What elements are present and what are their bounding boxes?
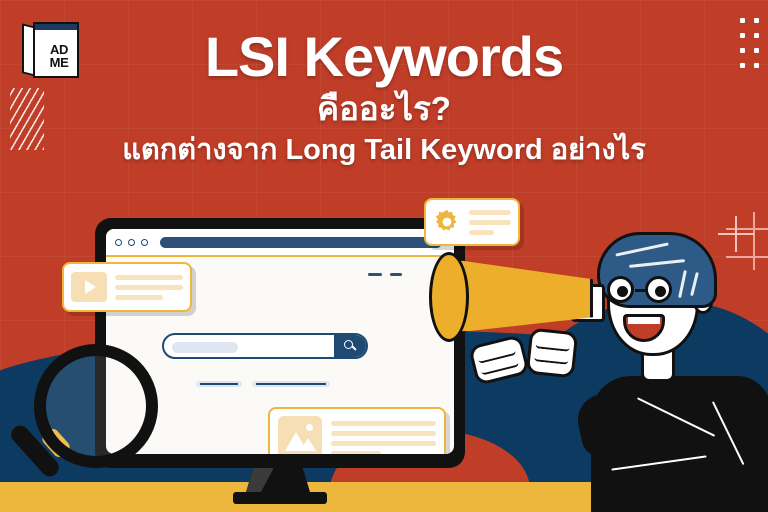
headline-block: LSI Keywords คืออะไร? แตกต่างจาก Long Ta… xyxy=(0,26,768,170)
page-dash-2 xyxy=(390,273,402,276)
search-icon xyxy=(344,340,357,353)
page-title: LSI Keywords xyxy=(0,26,768,88)
magnifier-ring xyxy=(34,344,158,468)
traffic-dot-3[interactable] xyxy=(141,239,148,246)
settings-card-lines xyxy=(469,210,511,235)
person-illustration xyxy=(585,218,768,512)
page-dash-1 xyxy=(368,273,382,276)
browser-url-bar[interactable] xyxy=(160,237,442,248)
search-input[interactable] xyxy=(162,333,368,359)
round-glasses-icon xyxy=(607,276,703,306)
magnifying-glass-icon xyxy=(0,338,178,512)
play-icon xyxy=(71,272,107,302)
monitor-base xyxy=(233,492,327,504)
search-placeholder xyxy=(172,342,238,353)
image-icon xyxy=(278,416,322,454)
poster-canvas: AD ME LSI Keywords คืออะไร? แตกต่างจาก L… xyxy=(0,0,768,512)
image-result-card[interactable] xyxy=(268,407,446,454)
settings-card[interactable] xyxy=(424,198,520,246)
megaphone-mouth xyxy=(429,252,469,342)
person-hand-right xyxy=(526,328,579,379)
page-subtitle-secondary: แตกต่างจาก Long Tail Keyword อย่างไร xyxy=(0,130,768,170)
video-card-lines xyxy=(115,275,183,300)
search-button[interactable] xyxy=(334,335,366,357)
page-subtitle: คืออะไร? xyxy=(0,88,768,130)
traffic-dot-1[interactable] xyxy=(115,239,122,246)
image-card-lines xyxy=(331,421,436,455)
traffic-dot-2[interactable] xyxy=(128,239,135,246)
result-line-2 xyxy=(252,381,330,387)
result-line-1 xyxy=(196,381,242,387)
browser-chrome xyxy=(106,229,454,257)
video-card[interactable] xyxy=(62,262,192,312)
gear-icon xyxy=(433,208,461,236)
